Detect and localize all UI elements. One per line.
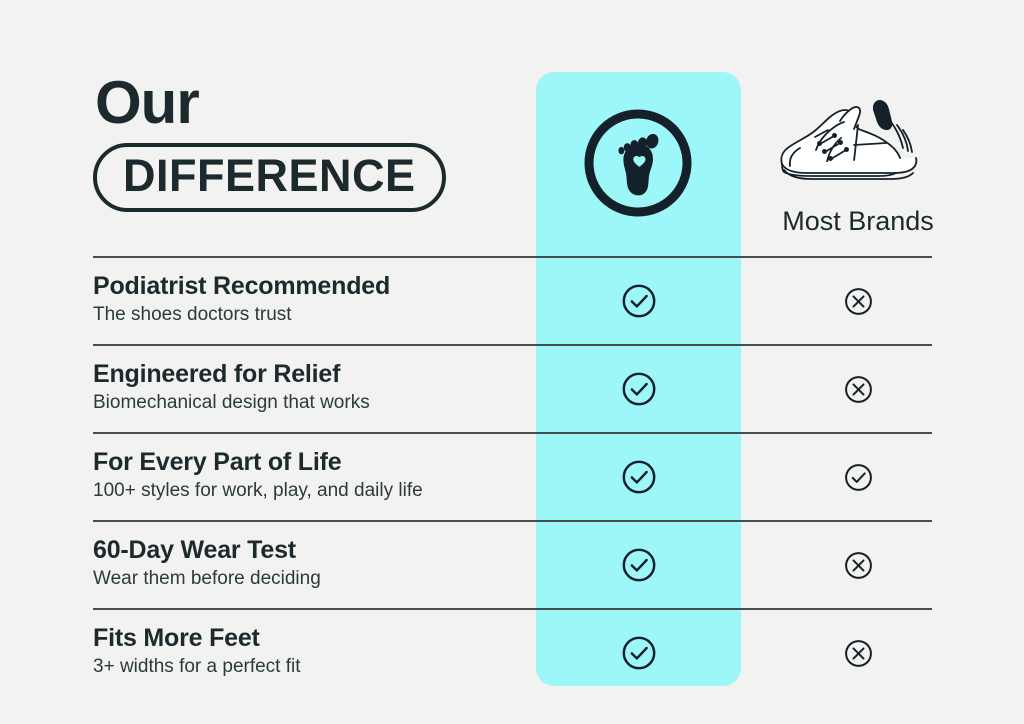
table-row: Podiatrist Recommended The shoes doctors… <box>93 256 932 344</box>
check-circle-icon <box>620 634 658 672</box>
table-row: Engineered for Relief Biomechanical desi… <box>93 344 932 432</box>
cell-competitor <box>748 258 968 344</box>
table-row: For Every Part of Life 100+ styles for w… <box>93 432 932 520</box>
check-circle-icon <box>620 458 658 496</box>
row-subtitle: Biomechanical design that works <box>93 392 533 415</box>
cell-ours <box>536 258 741 344</box>
row-title: Engineered for Relief <box>93 360 533 388</box>
row-text: For Every Part of Life 100+ styles for w… <box>93 434 533 503</box>
row-subtitle: The shoes doctors trust <box>93 304 533 327</box>
table-row: Fits More Feet 3+ widths for a perfect f… <box>93 608 932 696</box>
comparison-infographic: Our DIFFERENCE <box>0 0 1024 724</box>
cell-competitor <box>748 610 968 696</box>
row-title: Fits More Feet <box>93 624 533 652</box>
cell-ours <box>536 522 741 608</box>
row-subtitle: Wear them before deciding <box>93 568 533 591</box>
row-text: 60-Day Wear Test Wear them before decidi… <box>93 522 533 591</box>
foot-heart-circle-icon <box>578 103 698 223</box>
row-text: Podiatrist Recommended The shoes doctors… <box>93 258 533 327</box>
check-circle-icon <box>620 546 658 584</box>
cross-circle-icon <box>843 374 874 405</box>
page-title-line-2-pill: DIFFERENCE <box>93 143 446 212</box>
check-circle-icon <box>843 462 874 493</box>
row-title: For Every Part of Life <box>93 448 533 476</box>
cell-competitor <box>748 434 968 520</box>
cross-circle-icon <box>843 286 874 317</box>
row-subtitle: 100+ styles for work, play, and daily li… <box>93 480 533 503</box>
cell-competitor <box>748 522 968 608</box>
cross-circle-icon <box>843 638 874 669</box>
page-title-line-1: Our <box>95 74 523 133</box>
row-title: 60-Day Wear Test <box>93 536 533 564</box>
row-text: Fits More Feet 3+ widths for a perfect f… <box>93 610 533 679</box>
cell-ours <box>536 434 741 520</box>
cell-ours <box>536 346 741 432</box>
infographic-header: Our DIFFERENCE <box>0 0 1024 256</box>
cross-circle-icon <box>843 550 874 581</box>
row-text: Engineered for Relief Biomechanical desi… <box>93 346 533 415</box>
comparison-table: Podiatrist Recommended The shoes doctors… <box>93 256 932 696</box>
sneaker-illustration <box>770 78 946 200</box>
cell-competitor <box>748 346 968 432</box>
check-circle-icon <box>620 282 658 320</box>
table-row: 60-Day Wear Test Wear them before decidi… <box>93 520 932 608</box>
row-title: Podiatrist Recommended <box>93 272 533 300</box>
title-block: Our DIFFERENCE <box>93 74 523 212</box>
cell-ours <box>536 610 741 696</box>
row-subtitle: 3+ widths for a perfect fit <box>93 656 533 679</box>
competitor-column-label: Most Brands <box>748 206 968 237</box>
check-circle-icon <box>620 370 658 408</box>
